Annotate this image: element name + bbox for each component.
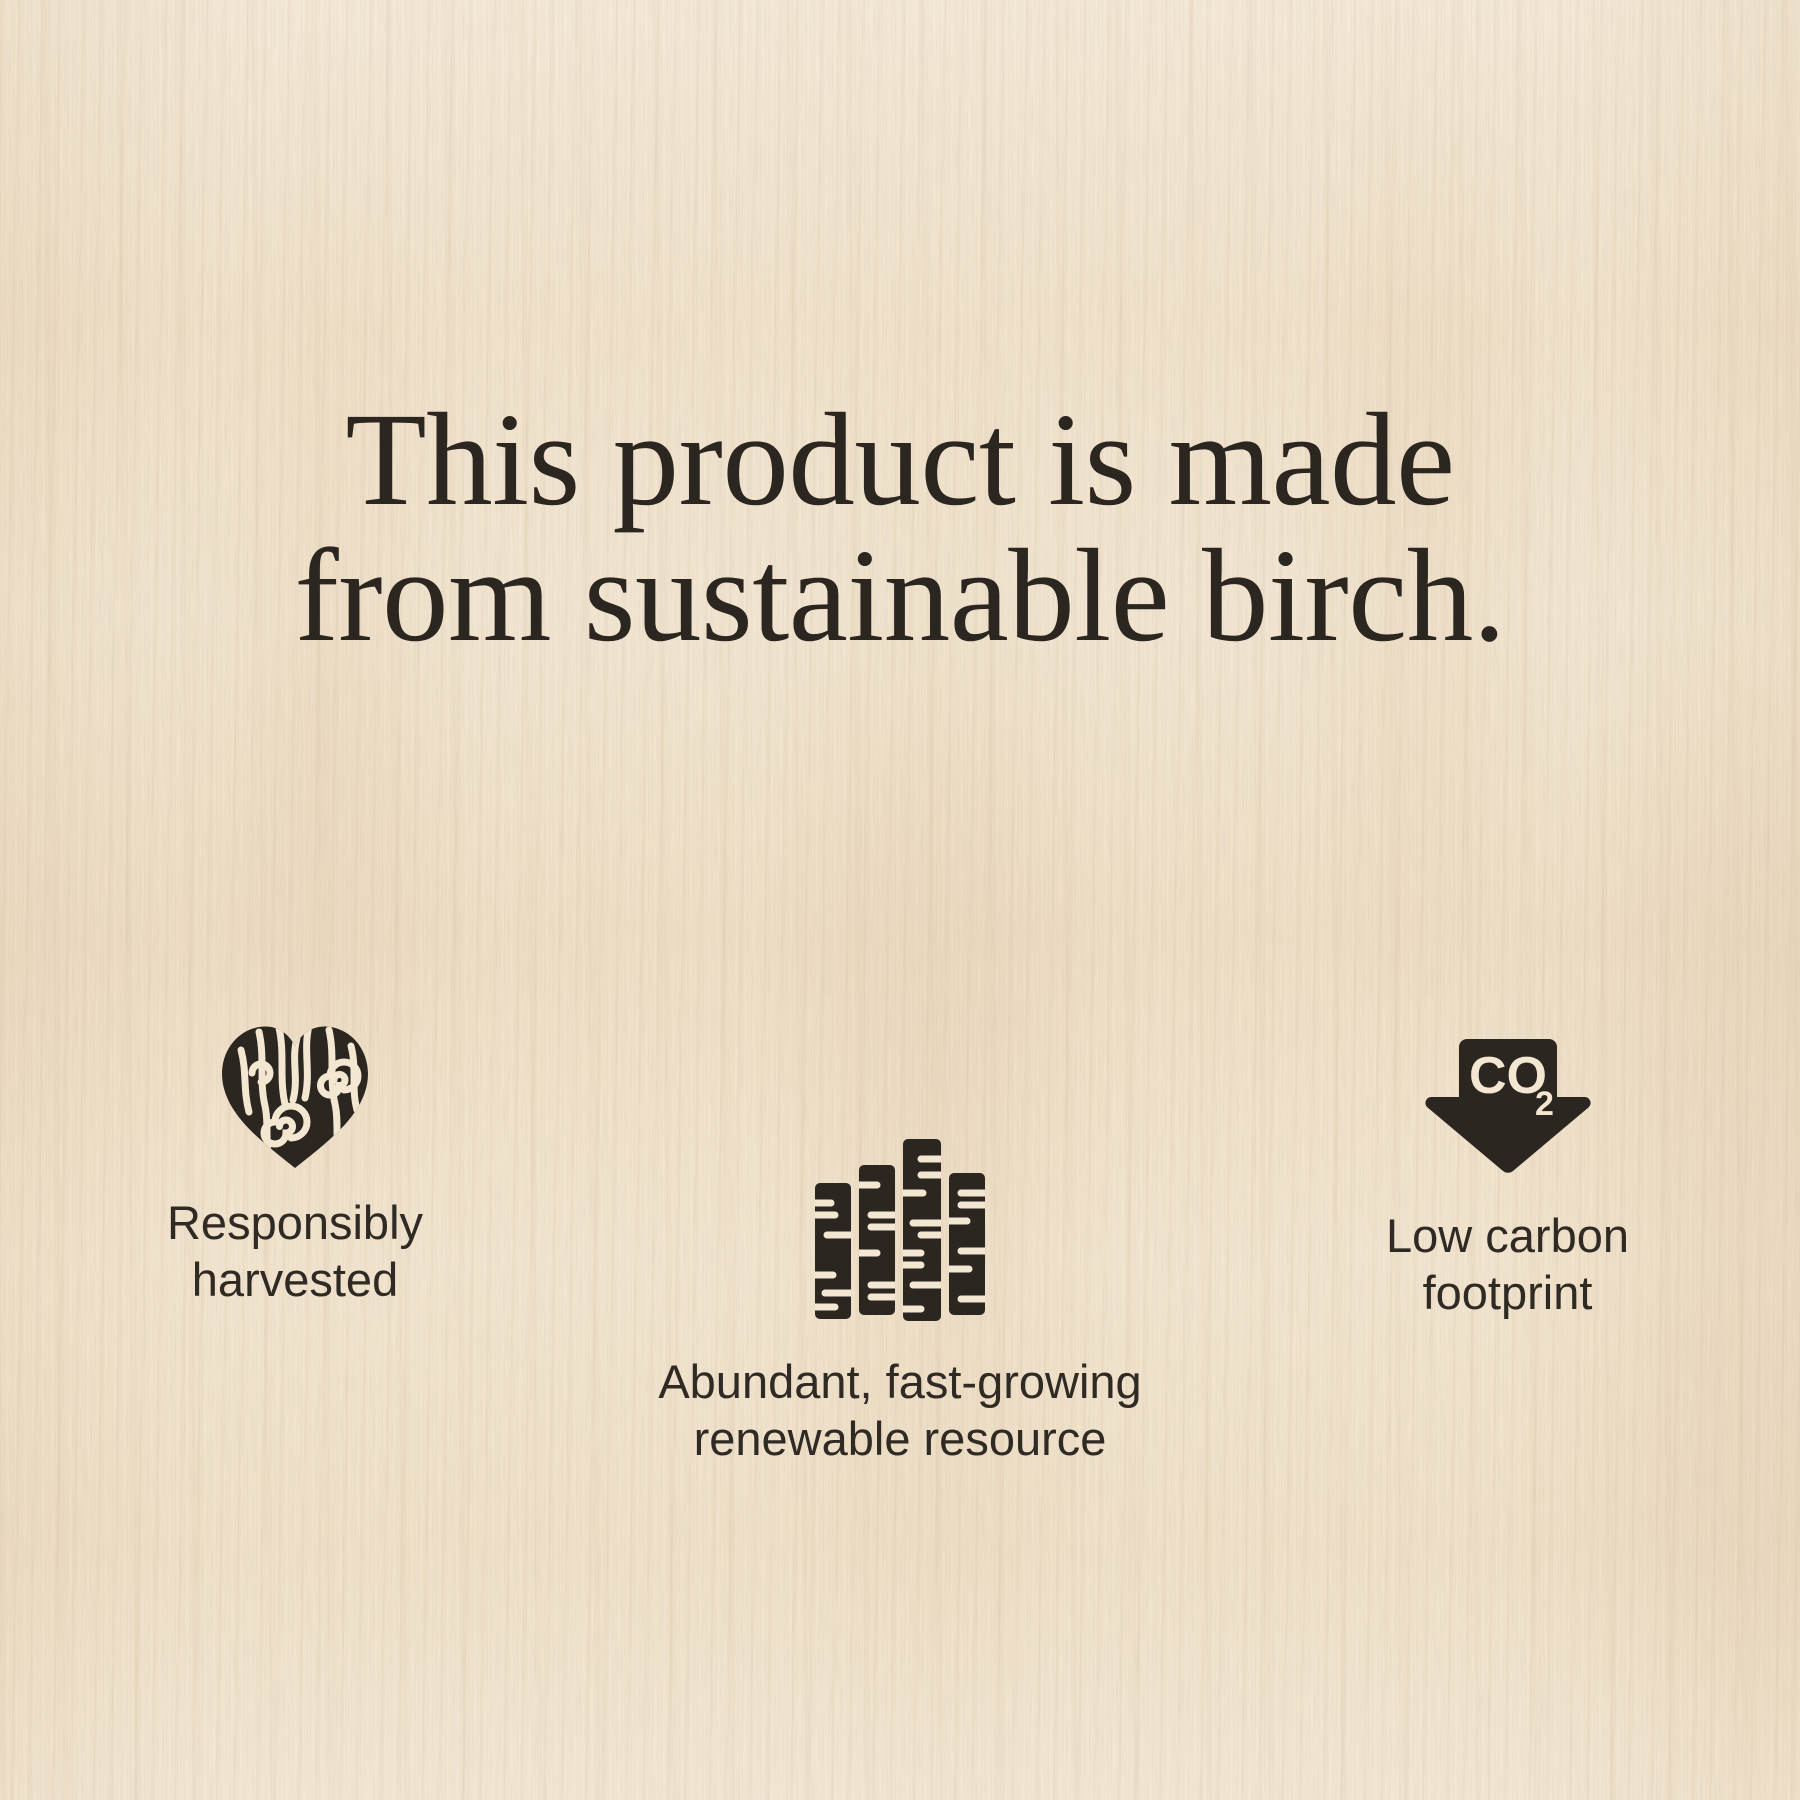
feature-renewable-resource: Abundant, fast-growing renewable resourc…: [555, 1020, 1245, 1525]
feature-caption: Low carbon footprint: [1285, 1207, 1730, 1322]
co2-icon-subscript: 2: [1535, 1085, 1554, 1123]
co2-down-arrow-icon: CO 2: [1419, 977, 1597, 1119]
birch-trunks-icon: [809, 1077, 991, 1265]
feature-caption: Abundant, fast-growing renewable resourc…: [555, 1353, 1245, 1468]
feature-low-carbon-footprint: CO 2 Low carbon footprint: [1285, 920, 1730, 1379]
page-title: This product is made from sustainable bi…: [0, 392, 1800, 663]
feature-responsibly-harvested: Responsibly harvested: [80, 905, 510, 1366]
feature-caption: Responsibly harvested: [80, 1194, 510, 1309]
sustainable-birch-poster: This product is made from sustainable bi…: [0, 0, 1800, 1800]
wood-grain-heart-icon: [219, 962, 371, 1112]
wood-noise-overlay: [0, 0, 1800, 1800]
